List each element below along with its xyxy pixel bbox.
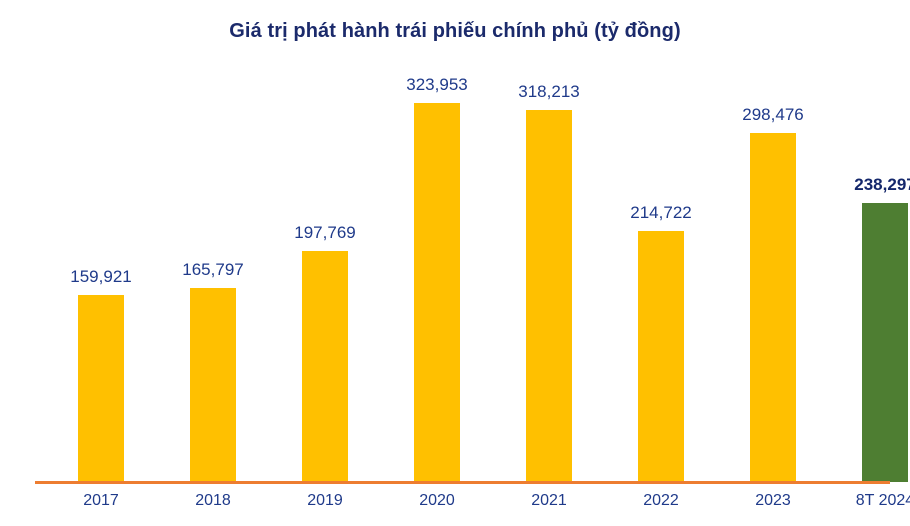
x-axis-tick-2018: 2018 xyxy=(157,492,269,510)
bar-value-label-2021: 318,213 xyxy=(518,83,579,100)
bar-wrap: 238,297 xyxy=(829,42,910,482)
x-axis-tick-2020: 2020 xyxy=(381,492,493,510)
x-axis-tick-2021: 2021 xyxy=(493,492,605,510)
bar-value-label-2020: 323,953 xyxy=(406,76,467,93)
bar-8T-2024[interactable] xyxy=(862,203,908,482)
bar-wrap: 159,921 xyxy=(45,42,157,482)
bar-wrap: 197,769 xyxy=(269,42,381,482)
x-axis-tick-8T-2024: 8T 2024 xyxy=(829,492,910,510)
bar-wrap: 214,722 xyxy=(605,42,717,482)
bar-value-label-2019: 197,769 xyxy=(294,224,355,241)
bar-group-2017: 159,921 xyxy=(45,42,157,482)
bar-2019[interactable] xyxy=(302,251,348,482)
bar-wrap: 323,953 xyxy=(381,42,493,482)
bar-group-2022: 214,722 xyxy=(605,42,717,482)
plot-area: 159,921165,797197,769323,953318,213214,7… xyxy=(0,0,910,526)
bar-2023[interactable] xyxy=(750,133,796,482)
bar-chart: Giá trị phát hành trái phiếu chính phủ (… xyxy=(0,0,910,526)
x-axis-tick-2019: 2019 xyxy=(269,492,381,510)
bar-value-label-2023: 298,476 xyxy=(742,106,803,123)
bar-2022[interactable] xyxy=(638,231,684,482)
x-axis-tick-2022: 2022 xyxy=(605,492,717,510)
bar-group-2020: 323,953 xyxy=(381,42,493,482)
bar-wrap: 298,476 xyxy=(717,42,829,482)
bar-group-2018: 165,797 xyxy=(157,42,269,482)
bar-2020[interactable] xyxy=(414,103,460,482)
bar-wrap: 318,213 xyxy=(493,42,605,482)
bar-group-8T-2024: 238,297 xyxy=(829,42,910,482)
bar-value-label-2022: 214,722 xyxy=(630,204,691,221)
bar-group-2019: 197,769 xyxy=(269,42,381,482)
x-axis-tick-2023: 2023 xyxy=(717,492,829,510)
bar-value-label-2018: 165,797 xyxy=(182,261,243,278)
x-axis-tick-2017: 2017 xyxy=(45,492,157,510)
bar-group-2021: 318,213 xyxy=(493,42,605,482)
bar-2017[interactable] xyxy=(78,295,124,482)
bar-wrap: 165,797 xyxy=(157,42,269,482)
bar-2018[interactable] xyxy=(190,288,236,482)
bar-group-2023: 298,476 xyxy=(717,42,829,482)
bar-value-label-8T-2024: 238,297 xyxy=(854,176,910,193)
x-axis-line xyxy=(35,481,890,484)
bar-value-label-2017: 159,921 xyxy=(70,268,131,285)
bar-2021[interactable] xyxy=(526,110,572,482)
